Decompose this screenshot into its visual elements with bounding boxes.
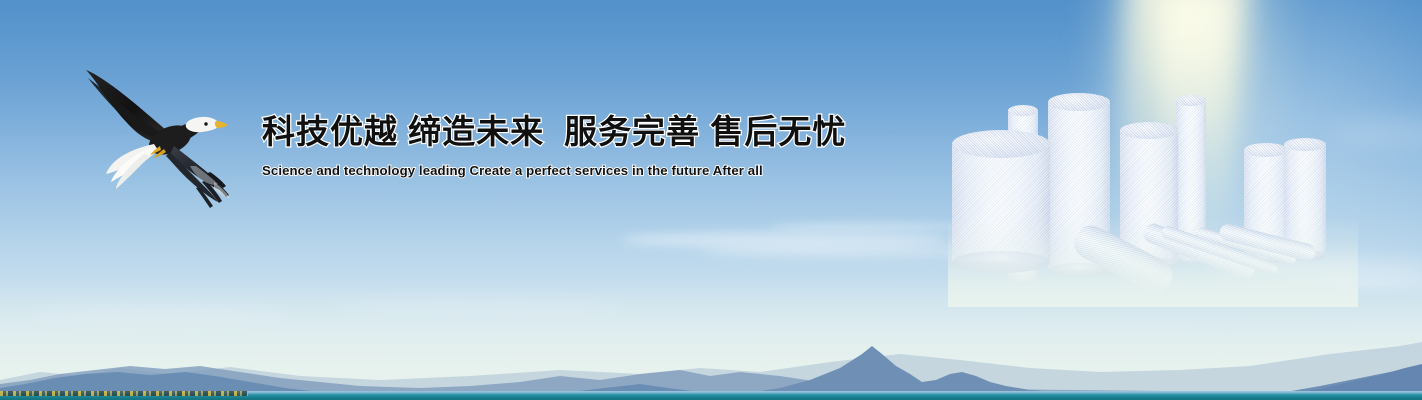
banner-text-block: 科技优越 缔造未来服务完善 售后无忧 Science and technolog… <box>262 112 822 178</box>
banner-subheadline: Science and technology leading Create a … <box>262 163 822 178</box>
product-filter-cartridges <box>948 92 1358 307</box>
headline-part-2: 服务完善 售后无忧 <box>564 113 846 150</box>
hero-banner: 科技优越 缔造未来服务完善 售后无忧 Science and technolog… <box>0 0 1422 400</box>
mountain-range <box>0 310 1422 400</box>
shoreline-lights <box>0 391 248 396</box>
headline-part-1: 科技优越 缔造未来 <box>262 113 544 150</box>
eagle-icon <box>78 56 238 226</box>
banner-headline: 科技优越 缔造未来服务完善 售后无忧 <box>262 112 822 152</box>
filter-cartridge <box>952 144 1050 262</box>
